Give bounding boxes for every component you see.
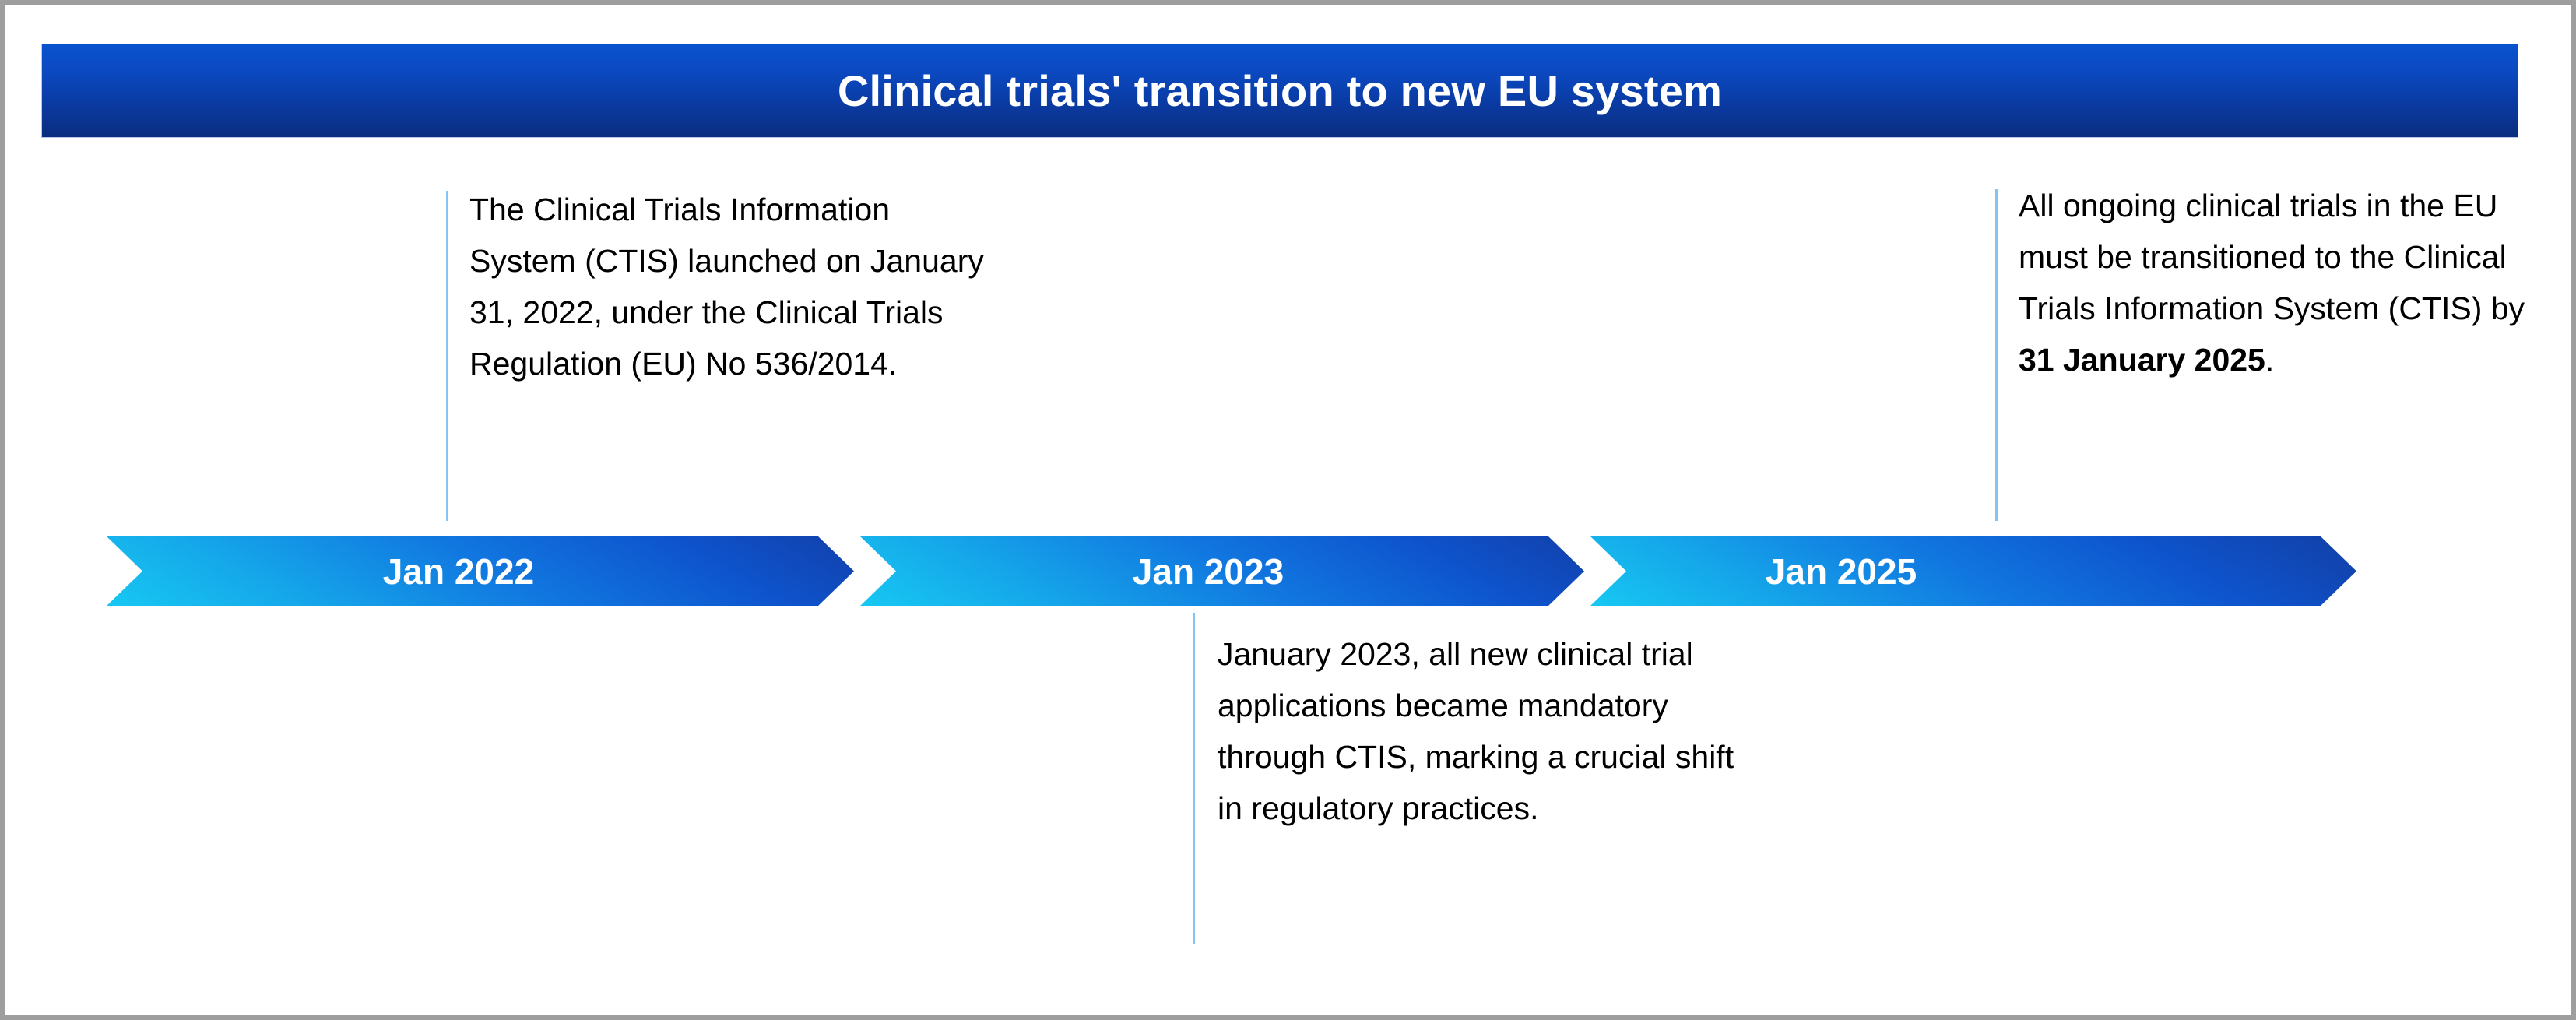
timeline-segment-jan-2023: Jan 2023 [860, 536, 1584, 606]
title-banner: Clinical trials' transition to new EU sy… [41, 44, 2518, 138]
timeline-label-jan-2022: Jan 2022 [383, 550, 534, 593]
callout-jan-2025-lead: All ongoing clinical trials in the EU mu… [2019, 188, 2525, 326]
timeline-band: Jan 2022 Jan 2023 Jan 2025 [107, 536, 2356, 606]
timeline-label-jan-2023: Jan 2023 [1133, 550, 1284, 593]
callout-jan-2025-deadline: 31 January 2025 [2019, 342, 2265, 378]
connector-line-jan-2022 [446, 191, 448, 521]
callout-jan-2025-tail: . [2265, 342, 2274, 378]
timeline-segment-jan-2022: Jan 2022 [107, 536, 854, 606]
connector-line-jan-2023 [1193, 613, 1195, 944]
timeline-label-jan-2025: Jan 2025 [1766, 550, 1917, 593]
infographic-canvas: Clinical trials' transition to new EU sy… [0, 0, 2576, 1020]
timeline-segment-jan-2025: Jan 2025 [1590, 536, 2356, 606]
callout-jan-2022: The Clinical Trials Information System (… [469, 184, 999, 389]
callout-jan-2025: All ongoing clinical trials in the EU mu… [2019, 180, 2564, 385]
page-title: Clinical trials' transition to new EU sy… [838, 65, 1722, 116]
callout-jan-2023-text: January 2023, all new clinical trial app… [1218, 636, 1734, 826]
callout-jan-2022-text: The Clinical Trials Information System (… [469, 192, 984, 382]
callout-jan-2023: January 2023, all new clinical trial app… [1218, 628, 1747, 834]
connector-line-jan-2025 [1995, 189, 1998, 521]
